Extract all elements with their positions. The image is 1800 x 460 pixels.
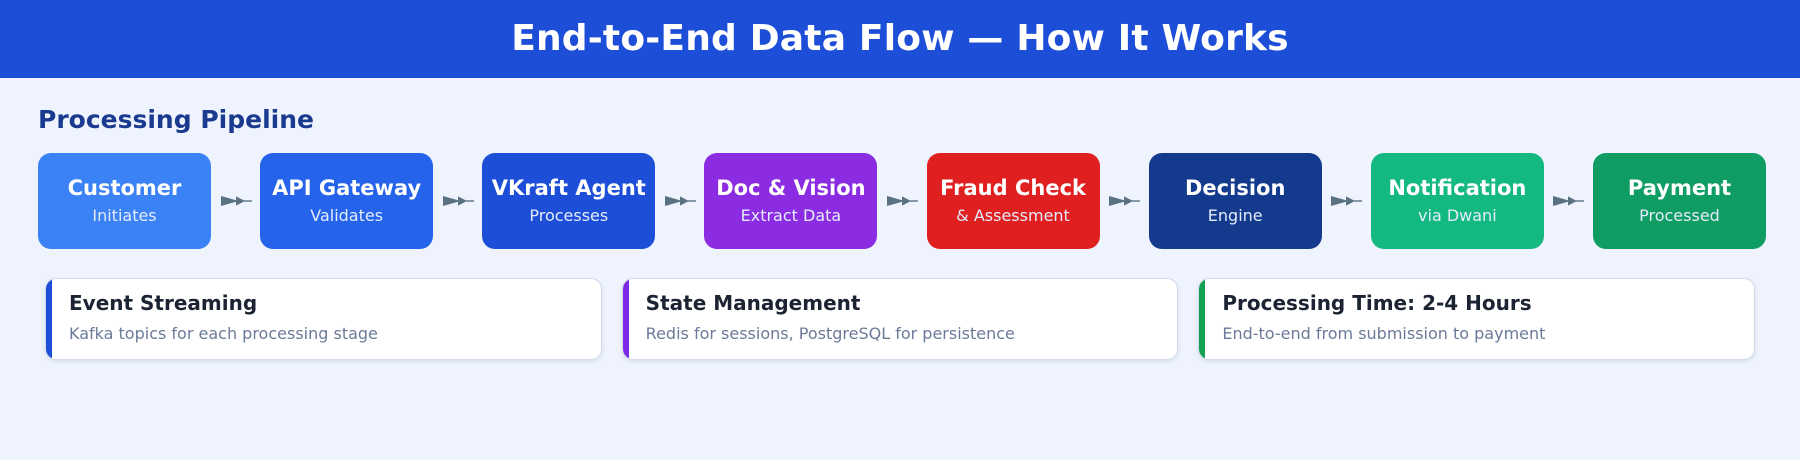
stage-title: Notification bbox=[1388, 176, 1526, 200]
stage-title: API Gateway bbox=[272, 176, 421, 200]
pipeline-stage-decision[interactable]: Decision Engine bbox=[1149, 153, 1322, 249]
card-title: Event Streaming bbox=[69, 292, 378, 314]
arrow-right-icon bbox=[211, 193, 260, 209]
page-title: End-to-End Data Flow — How It Works bbox=[511, 21, 1289, 57]
info-card-processing-time: Processing Time: 2-4 Hours End-to-end fr… bbox=[1198, 278, 1755, 360]
arrow-right-icon bbox=[655, 193, 704, 209]
pipeline-stage-customer[interactable]: Customer Initiates bbox=[38, 153, 211, 249]
card-subtitle: End-to-end from submission to payment bbox=[1222, 325, 1545, 343]
stage-subtitle: Processes bbox=[529, 207, 608, 225]
stage-subtitle: Validates bbox=[310, 207, 383, 225]
arrow-right-icon bbox=[433, 193, 482, 209]
arrow-right-icon bbox=[877, 193, 926, 209]
pipeline-stage-vkraft-agent[interactable]: VKraft Agent Processes bbox=[482, 153, 655, 249]
stage-title: Customer bbox=[68, 176, 182, 200]
info-card-event-streaming: Event Streaming Kafka topics for each pr… bbox=[45, 278, 602, 360]
section-title: Processing Pipeline bbox=[38, 107, 1800, 132]
info-card-row: Event Streaming Kafka topics for each pr… bbox=[0, 278, 1800, 360]
processing-pipeline: Customer Initiates API Gateway Validates… bbox=[0, 153, 1800, 249]
stage-title: Fraud Check bbox=[940, 176, 1086, 200]
stage-subtitle: Extract Data bbox=[741, 207, 842, 225]
stage-subtitle: via Dwani bbox=[1418, 207, 1497, 225]
card-title: Processing Time: 2-4 Hours bbox=[1222, 292, 1545, 314]
arrow-right-icon bbox=[1100, 193, 1149, 209]
stage-subtitle: Initiates bbox=[92, 207, 156, 225]
arrow-right-icon bbox=[1544, 193, 1593, 209]
stage-title: Decision bbox=[1185, 176, 1285, 200]
stage-title: VKraft Agent bbox=[492, 176, 646, 200]
pipeline-stage-api-gateway[interactable]: API Gateway Validates bbox=[260, 153, 433, 249]
card-subtitle: Kafka topics for each processing stage bbox=[69, 325, 378, 343]
stage-subtitle: Processed bbox=[1639, 207, 1720, 225]
arrow-right-icon bbox=[1322, 193, 1371, 209]
pipeline-stage-payment[interactable]: Payment Processed bbox=[1593, 153, 1766, 249]
page-header: End-to-End Data Flow — How It Works bbox=[0, 0, 1800, 78]
stage-title: Payment bbox=[1628, 176, 1731, 200]
stage-title: Doc & Vision bbox=[716, 176, 865, 200]
pipeline-stage-doc-vision[interactable]: Doc & Vision Extract Data bbox=[704, 153, 877, 249]
pipeline-stage-fraud-check[interactable]: Fraud Check & Assessment bbox=[927, 153, 1100, 249]
card-title: State Management bbox=[646, 292, 1015, 314]
stage-subtitle: & Assessment bbox=[956, 207, 1070, 225]
stage-subtitle: Engine bbox=[1208, 207, 1263, 225]
pipeline-stage-notification[interactable]: Notification via Dwani bbox=[1371, 153, 1544, 249]
card-subtitle: Redis for sessions, PostgreSQL for persi… bbox=[646, 325, 1015, 343]
info-card-state-management: State Management Redis for sessions, Pos… bbox=[622, 278, 1179, 360]
